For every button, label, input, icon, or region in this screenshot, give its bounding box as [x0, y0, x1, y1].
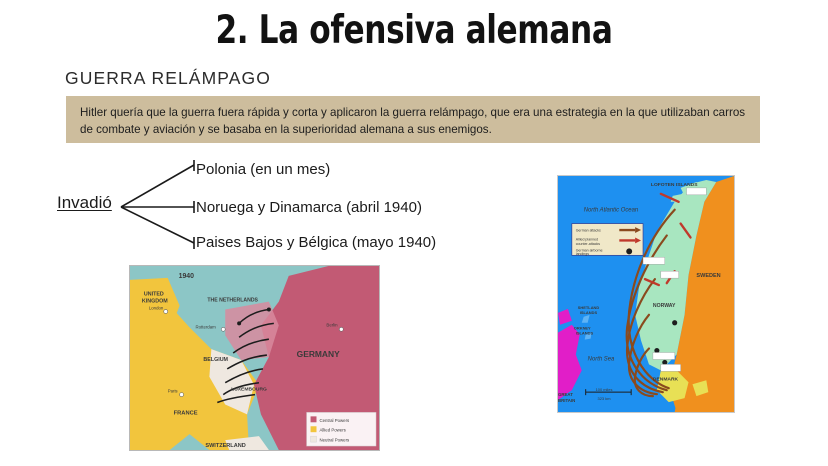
slide-canvas: 2. La ofensiva alemana GUERRA RELÁMPAGO … — [0, 0, 828, 466]
map-west-country-france: FRANCE — [174, 410, 198, 416]
map-west-country-uk: UNITED — [144, 292, 164, 298]
map-norway-campaign: LOFOTEN ISLANDS North Atlantic Ocean Nor… — [557, 175, 735, 413]
map-west-legend-neutral: Neutral Powers — [319, 438, 350, 443]
map-nor-legend-german-attacks: German attacks — [576, 229, 601, 233]
svg-text:KINGDOM: KINGDOM — [142, 299, 168, 305]
svg-text:landings: landings — [576, 252, 589, 256]
map-west-country-germany: GERMANY — [297, 349, 340, 359]
diagram-root-label: Invadió — [57, 193, 112, 213]
map-nor-country-norway: NORWAY — [653, 303, 676, 309]
map-west-city-berlin: Berlin — [326, 322, 338, 327]
svg-text:ISLANDS: ISLANDS — [576, 331, 594, 336]
map-nor-country-sweden: SWEDEN — [696, 273, 720, 279]
callout-box: Hitler quería que la guerra fuera rápida… — [66, 96, 760, 143]
map-nor-ocean-north-sea: North Sea — [588, 356, 615, 362]
map-west-legend-allied: Allied Powers — [319, 428, 346, 433]
map-west-country-belgium: BELGIUM — [203, 357, 228, 363]
map-nor-scale-km: 323 km — [598, 396, 612, 401]
map-west-country-luxembourg: LUXEMBOURG — [231, 387, 267, 393]
diagram-branch-label-3: Paises Bajos y Bélgica (mayo 1940) — [196, 234, 436, 251]
diagram-branch-label-1: Polonia (en un mes) — [196, 161, 330, 178]
map-western-front-1940: 1940 UNITED KINGDOM THE NETHERLANDS GERM… — [129, 265, 380, 451]
svg-text:ISLANDS: ISLANDS — [580, 310, 598, 315]
map-nor-lofoten: LOFOTEN ISLANDS — [651, 182, 698, 188]
diagram-branch-label-2: Noruega y Dinamarca (abril 1940) — [196, 199, 422, 216]
svg-text:BRITAIN: BRITAIN — [558, 398, 575, 403]
map-west-country-switzerland: SWITZERLAND — [205, 443, 245, 449]
page-title: 2. La ofensiva alemana — [83, 8, 745, 54]
map-nor-scale-miles: 100 miles — [596, 387, 613, 392]
map-west-city-paris: Paris — [168, 389, 179, 394]
section-subtitle: GUERRA RELÁMPAGO — [65, 68, 271, 89]
map-west-year: 1940 — [179, 273, 195, 280]
map-nor-legend-allied-counter: Allied planned — [576, 237, 598, 241]
map-nor-country-denmark: DENMARK — [653, 376, 679, 382]
map-west-city-rotterdam: Rotterdam — [195, 324, 216, 329]
map-nor-country-britain: GREAT — [558, 392, 573, 397]
callout-text: Hitler quería que la guerra fuera rápida… — [80, 105, 748, 138]
map-nor-ocean-atlantic: North Atlantic Ocean — [584, 208, 639, 214]
map-west-legend: Central Powers Allied Powers Neutral Pow… — [307, 412, 376, 446]
map-nor-legend: German attacks Allied planned counter-at… — [572, 224, 643, 256]
svg-text:counter-attacks: counter-attacks — [576, 242, 600, 246]
map-west-legend-central: Central Powers — [319, 418, 350, 423]
map-west-country-netherlands: THE NETHERLANDS — [207, 298, 258, 304]
map-west-city-london: London — [149, 306, 164, 311]
